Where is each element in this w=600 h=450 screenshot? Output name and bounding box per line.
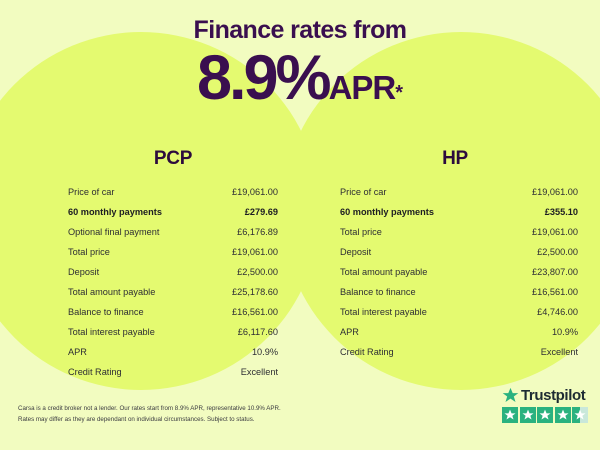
- trustpilot-star-box: [555, 407, 571, 423]
- finance-row-value: £23,807.00: [532, 262, 578, 282]
- finance-row-label: Total price: [68, 242, 110, 262]
- finance-row-value: £19,061.00: [532, 222, 578, 242]
- finance-row-value: £6,176.89: [237, 222, 278, 242]
- header: Finance rates from 8.9% APR *: [0, 0, 600, 110]
- finance-row-value: £19,061.00: [232, 182, 278, 202]
- finance-row-label: Optional final payment: [68, 222, 159, 242]
- finance-row-value: 10.9%: [252, 342, 278, 362]
- finance-row: Credit RatingExcellent: [340, 342, 578, 362]
- finance-row: 60 monthly payments£355.10: [340, 202, 578, 222]
- finance-row-label: APR: [340, 322, 359, 342]
- rate-asterisk: *: [395, 83, 403, 103]
- finance-row-label: Total price: [340, 222, 382, 242]
- disclaimer-line-1: Carsa is a credit broker not a lender. O…: [18, 404, 348, 415]
- finance-row-label: APR: [68, 342, 87, 362]
- finance-row-label: Deposit: [68, 262, 99, 282]
- rate-value: 8.9%: [197, 47, 329, 110]
- finance-row: Credit RatingExcellent: [68, 362, 278, 382]
- finance-row: Total amount payable£23,807.00: [340, 262, 578, 282]
- finance-row: Total price£19,061.00: [68, 242, 278, 262]
- trustpilot-stars: [502, 407, 588, 423]
- rate-unit: APR: [329, 71, 396, 104]
- disclaimer: Carsa is a credit broker not a lender. O…: [18, 404, 348, 425]
- trustpilot-wordmark: Trustpilot: [521, 387, 585, 404]
- finance-row-label: Total interest payable: [340, 302, 427, 322]
- column-title-hp: HP: [332, 148, 578, 170]
- finance-row: APR10.9%: [68, 342, 278, 362]
- finance-row-label: Price of car: [68, 182, 114, 202]
- finance-row: Balance to finance£16,561.00: [340, 282, 578, 302]
- finance-row-value: £25,178.60: [232, 282, 278, 302]
- finance-row-value: £355.10: [545, 202, 578, 222]
- finance-row-value: £16,561.00: [532, 282, 578, 302]
- trustpilot-star-icon: [502, 387, 519, 404]
- trustpilot-rating[interactable]: Trustpilot: [502, 386, 588, 423]
- finance-row: Optional final payment£6,176.89: [68, 222, 278, 242]
- finance-row-value: £19,061.00: [532, 182, 578, 202]
- finance-row: 60 monthly payments£279.69: [68, 202, 278, 222]
- finance-column-hp: HP Price of car£19,061.0060 monthly paym…: [300, 148, 600, 382]
- finance-row-value: £16,561.00: [232, 302, 278, 322]
- trustpilot-logo: Trustpilot: [502, 386, 588, 404]
- promo-banner: Finance rates from 8.9% APR * PCP Price …: [0, 0, 600, 450]
- finance-comparison: PCP Price of car£19,061.0060 monthly pay…: [0, 148, 600, 382]
- finance-row-value: £279.69: [245, 202, 278, 222]
- finance-row-value: 10.9%: [552, 322, 578, 342]
- finance-row-label: Balance to finance: [68, 302, 144, 322]
- finance-row: Deposit£2,500.00: [68, 262, 278, 282]
- finance-row-label: Deposit: [340, 242, 371, 262]
- finance-row-label: Total amount payable: [340, 262, 427, 282]
- finance-row: APR10.9%: [340, 322, 578, 342]
- finance-row-label: Price of car: [340, 182, 386, 202]
- finance-row-label: Total interest payable: [68, 322, 155, 342]
- finance-row-value: £2,500.00: [237, 262, 278, 282]
- finance-row: Total interest payable£6,117.60: [68, 322, 278, 342]
- trustpilot-star-box: [520, 407, 536, 423]
- finance-row: Price of car£19,061.00: [340, 182, 578, 202]
- finance-row-label: Credit Rating: [68, 362, 122, 382]
- column-title-pcp: PCP: [68, 148, 278, 170]
- finance-row-value: £19,061.00: [232, 242, 278, 262]
- finance-row-value: £6,117.60: [238, 322, 278, 342]
- finance-row-label: 60 monthly payments: [68, 202, 162, 222]
- finance-row-label: Balance to finance: [340, 282, 416, 302]
- finance-row-value: £2,500.00: [537, 242, 578, 262]
- finance-row-value: Excellent: [541, 342, 578, 362]
- finance-row-value: Excellent: [241, 362, 278, 382]
- finance-row-label: Credit Rating: [340, 342, 394, 362]
- finance-row: Balance to finance£16,561.00: [68, 302, 278, 322]
- trustpilot-star-box: [537, 407, 553, 423]
- disclaimer-line-2: Rates may differ as they are dependant o…: [18, 415, 348, 426]
- finance-row-label: Total amount payable: [68, 282, 155, 302]
- finance-row-value: £4,746.00: [537, 302, 578, 322]
- finance-row: Deposit£2,500.00: [340, 242, 578, 262]
- finance-column-pcp: PCP Price of car£19,061.0060 monthly pay…: [0, 148, 300, 382]
- page-title: Finance rates from: [0, 0, 600, 45]
- trustpilot-star-box: [572, 407, 588, 423]
- rate-display: 8.9% APR *: [0, 47, 600, 110]
- finance-row: Total interest payable£4,746.00: [340, 302, 578, 322]
- finance-row: Total price£19,061.00: [340, 222, 578, 242]
- finance-row: Total amount payable£25,178.60: [68, 282, 278, 302]
- rows-pcp: Price of car£19,061.0060 monthly payment…: [68, 182, 278, 382]
- trustpilot-star-box: [502, 407, 518, 423]
- rows-hp: Price of car£19,061.0060 monthly payment…: [340, 182, 578, 362]
- finance-row: Price of car£19,061.00: [68, 182, 278, 202]
- finance-row-label: 60 monthly payments: [340, 202, 434, 222]
